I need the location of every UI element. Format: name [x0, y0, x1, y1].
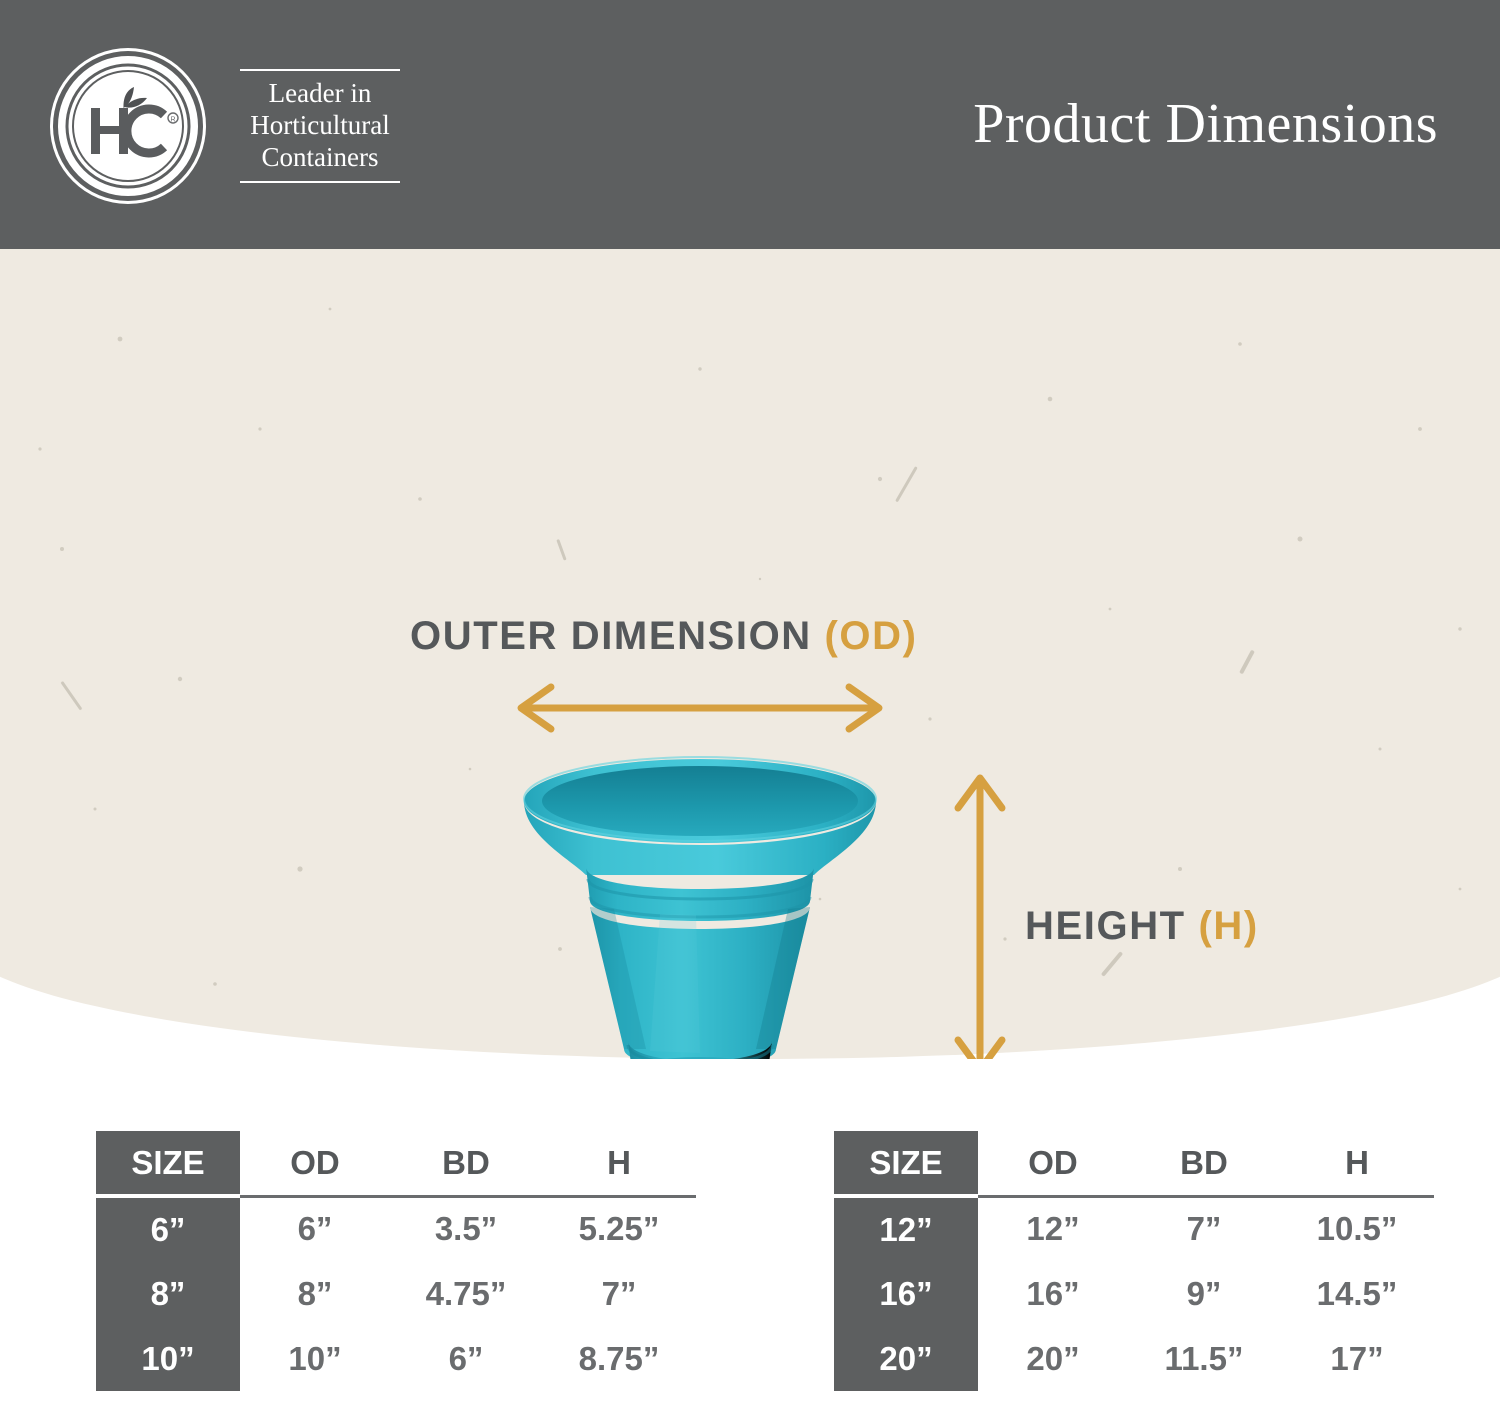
hc-logo-icon: R [58, 56, 198, 196]
planter-pot-image [510, 749, 890, 1059]
cell-od: 8” [240, 1261, 390, 1326]
tagline-line-2: Horticultural [240, 110, 400, 142]
table-row: 6” 6” 3.5” 5.25” [96, 1196, 696, 1261]
outer-dimension-text: OUTER DIMENSION [410, 614, 812, 658]
cell-bd: 11.5” [1128, 1326, 1280, 1391]
cell-h: 14.5” [1280, 1261, 1434, 1326]
height-arrow-icon [950, 764, 1010, 1059]
page-title: Product Dimensions [973, 92, 1438, 156]
cell-size: 20” [834, 1326, 978, 1391]
cell-od: 6” [240, 1196, 390, 1261]
column-header-bd: BD [390, 1131, 542, 1196]
cell-size: 8” [96, 1261, 240, 1326]
cell-bd: 3.5” [390, 1196, 542, 1261]
column-header-h: H [1280, 1131, 1434, 1196]
table-row: 10” 10” 6” 8.75” [96, 1326, 696, 1391]
height-code: (H) [1198, 904, 1258, 948]
cell-size: 10” [96, 1326, 240, 1391]
cell-h: 8.75” [542, 1326, 696, 1391]
table-row: 16” 16” 9” 14.5” [834, 1261, 1434, 1326]
column-header-size: SIZE [834, 1131, 978, 1196]
size-table-small: SIZE OD BD H 6” 6” 3.5” 5.25” 8” 8” 4.75… [96, 1131, 696, 1391]
column-header-h: H [542, 1131, 696, 1196]
outer-dimension-arrow-icon [505, 681, 895, 735]
cell-h: 5.25” [542, 1196, 696, 1261]
table-header-row: SIZE OD BD H [834, 1131, 1434, 1196]
brand-tagline: Leader in Horticultural Containers [240, 69, 400, 183]
cell-od: 16” [978, 1261, 1128, 1326]
cell-size: 12” [834, 1196, 978, 1261]
size-table-large: SIZE OD BD H 12” 12” 7” 10.5” 16” 16” 9” [834, 1131, 1434, 1391]
height-label: HEIGHT (H) [1025, 904, 1259, 949]
diagram-panel: OUTER DIMENSION (OD) HEIGHT (H) BASE DIM… [0, 249, 1500, 1059]
dimension-tables: SIZE OD BD H 6” 6” 3.5” 5.25” 8” 8” 4.75… [0, 1059, 1500, 1404]
cell-od: 12” [978, 1196, 1128, 1261]
cell-h: 17” [1280, 1326, 1434, 1391]
table-header-row: SIZE OD BD H [96, 1131, 696, 1196]
tagline-line-3: Containers [240, 142, 400, 174]
outer-dimension-label: OUTER DIMENSION (OD) [410, 614, 918, 659]
table-row: 20” 20” 11.5” 17” [834, 1326, 1434, 1391]
page-header: R Leader in Horticultural Containers Pro… [0, 0, 1500, 249]
tagline-line-1: Leader in [240, 78, 400, 110]
cell-bd: 6” [390, 1326, 542, 1391]
column-header-size: SIZE [96, 1131, 240, 1196]
cell-h: 7” [542, 1261, 696, 1326]
outer-dimension-code: (OD) [825, 614, 918, 658]
table-row: 12” 12” 7” 10.5” [834, 1196, 1434, 1261]
table-row: 8” 8” 4.75” 7” [96, 1261, 696, 1326]
brand-logo: R Leader in Horticultural Containers [58, 56, 400, 196]
cell-bd: 4.75” [390, 1261, 542, 1326]
cell-size: 6” [96, 1196, 240, 1261]
cell-bd: 9” [1128, 1261, 1280, 1326]
column-header-od: OD [978, 1131, 1128, 1196]
svg-text:R: R [170, 116, 175, 123]
cell-h: 10.5” [1280, 1196, 1434, 1261]
cell-od: 20” [978, 1326, 1128, 1391]
cell-od: 10” [240, 1326, 390, 1391]
column-header-bd: BD [1128, 1131, 1280, 1196]
height-text: HEIGHT [1025, 904, 1186, 948]
cell-bd: 7” [1128, 1196, 1280, 1261]
column-header-od: OD [240, 1131, 390, 1196]
cell-size: 16” [834, 1261, 978, 1326]
